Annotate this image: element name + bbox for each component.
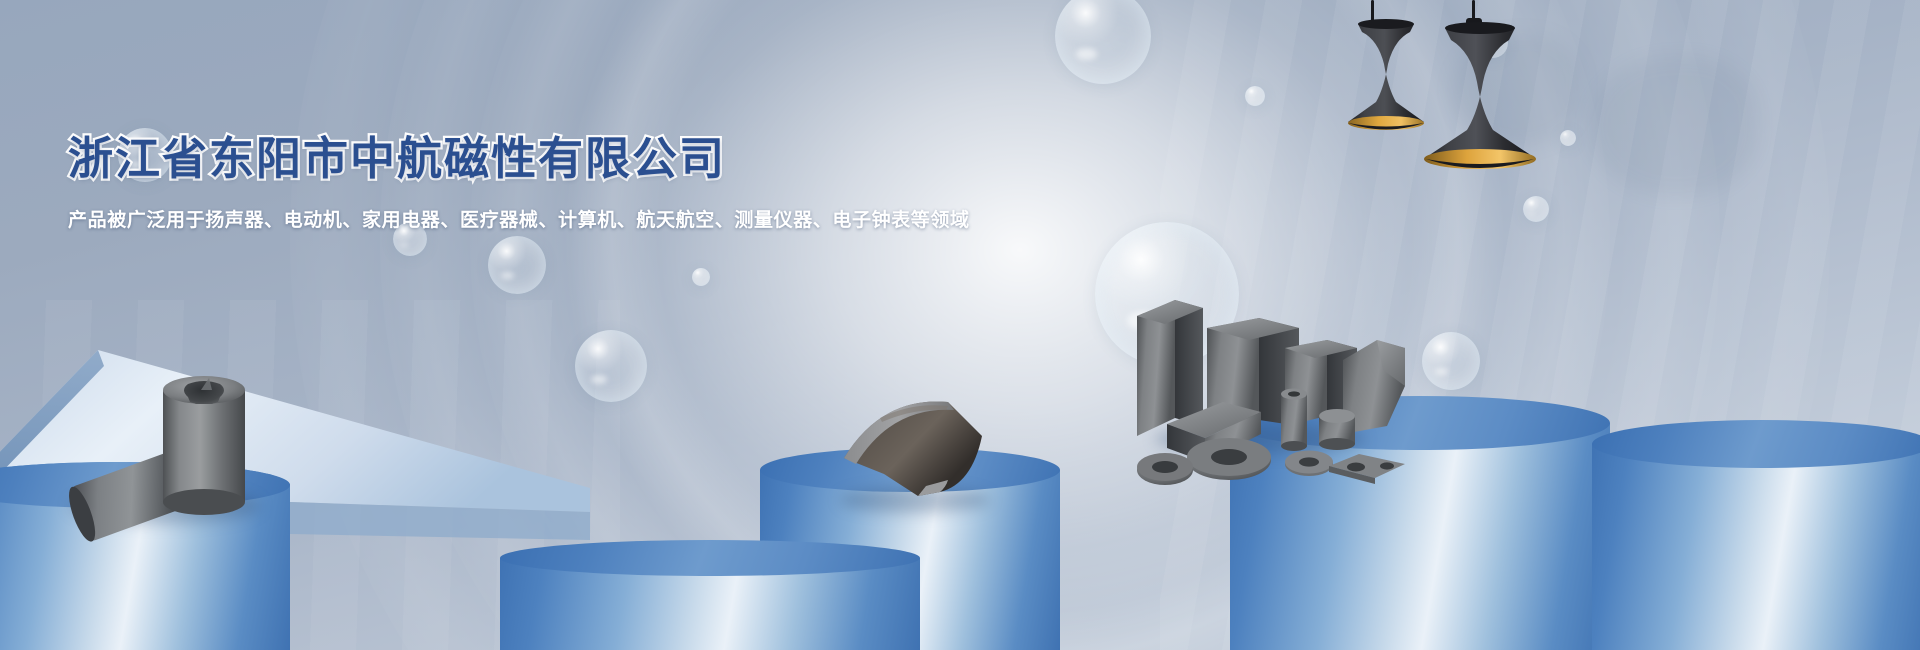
floating-bubble (575, 330, 647, 402)
banner-text-block: 浙江省东阳市中航磁性有限公司 产品被广泛用于扬声器、电动机、家用电器、医疗器械、… (68, 132, 970, 232)
hero-banner: 浙江省东阳市中航磁性有限公司 产品被广泛用于扬声器、电动机、家用电器、医疗器械、… (0, 0, 1920, 650)
floating-bubble (1055, 0, 1151, 84)
product-shadow (70, 488, 260, 524)
podium-top-surface (760, 448, 1060, 492)
podium-side (760, 470, 1060, 650)
podium-side (1592, 444, 1920, 650)
pendant-lamp-large (1400, 0, 1600, 175)
lamp-shadow (1588, 56, 1758, 196)
product-shadow (840, 487, 990, 513)
floating-bubble (1095, 222, 1239, 366)
floating-bubble (488, 236, 546, 294)
podium-side (1230, 423, 1610, 650)
podium-top-surface (0, 462, 290, 508)
floating-bubble (1523, 196, 1549, 222)
podium-side (500, 558, 920, 650)
floating-bubble (1422, 332, 1480, 390)
banner-subtitle: 产品被广泛用于扬声器、电动机、家用电器、医疗器械、计算机、航天航空、测量仪器、电… (68, 205, 970, 232)
display-podium (0, 462, 290, 650)
podium-side (0, 485, 290, 650)
podium-top (0, 462, 290, 508)
arc-tile-magnet (822, 388, 1022, 518)
podium-top-surface (1230, 396, 1610, 450)
floating-bubble (1245, 86, 1265, 106)
cylinder-magnets (60, 352, 320, 542)
lamp-shade-icon (1400, 18, 1600, 188)
podium-top-surface (500, 540, 920, 576)
floating-bubble (692, 268, 710, 286)
light-streaks-left (0, 300, 620, 650)
display-podium (500, 540, 920, 650)
page-title: 浙江省东阳市中航磁性有限公司 (68, 132, 970, 185)
assorted-ferrite-magnets (1135, 268, 1435, 488)
display-podium (1592, 420, 1920, 650)
display-podium (760, 448, 1060, 650)
podium-top-surface (1592, 420, 1920, 468)
glass-platform-left (0, 340, 590, 640)
display-podium (1230, 396, 1610, 650)
product-shadow (1155, 424, 1365, 454)
